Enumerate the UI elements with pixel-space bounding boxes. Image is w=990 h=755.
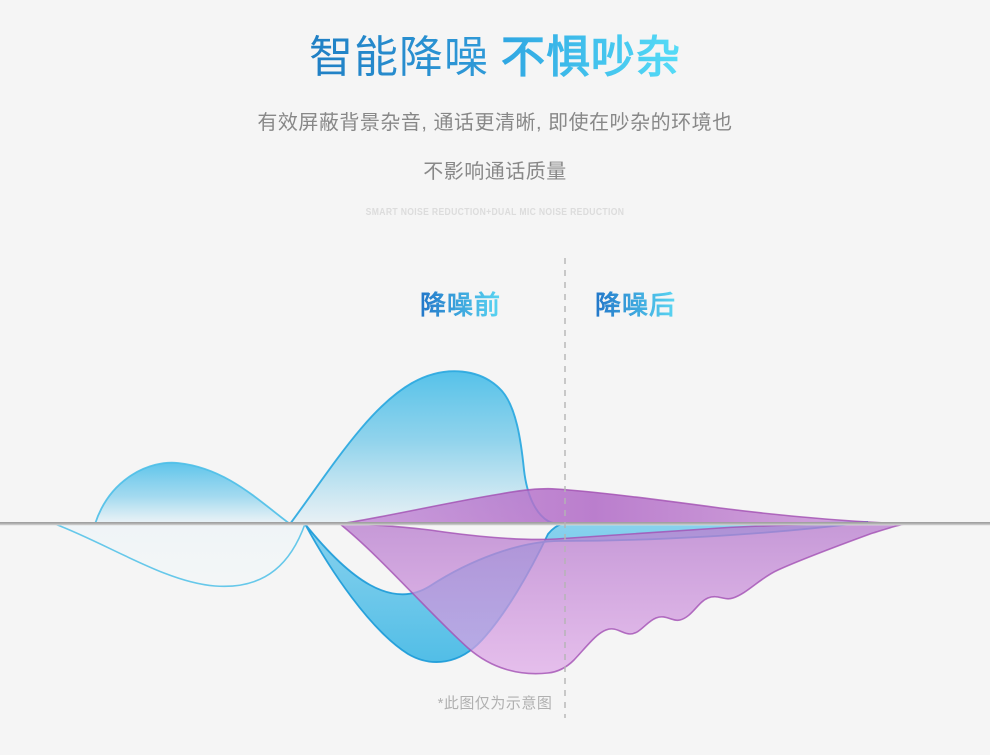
clean-wave-upper-lobe — [340, 489, 905, 524]
noise-reduction-page: 智能降噪不惧吵杂 有效屏蔽背景杂音, 通话更清晰, 即使在吵杂的环境也 不影响通… — [0, 0, 990, 755]
subtitle-line-2: 不影响通话质量 — [0, 155, 990, 184]
page-title-part1: 智能降噪 — [309, 33, 489, 82]
noise-wave-lower-main-lobe — [305, 522, 868, 662]
noise-wave-upper-main-lobe — [290, 371, 562, 524]
footnote-disclaimer: *此图仅为示意图 — [0, 692, 990, 713]
noise-wave-lower-small-lobe — [55, 524, 305, 586]
eyebrow-tagline: SMART NOISE REDUCTION+DUAL MIC NOISE RED… — [69, 207, 920, 218]
page-title: 智能降噪不惧吵杂 — [0, 30, 990, 86]
noise-wave-upper-small-lobe — [95, 463, 290, 524]
label-before-noise-reduction: 降噪前 — [420, 285, 501, 322]
label-after-noise-reduction: 降噪后 — [595, 285, 676, 322]
clean-wave-lower-lobe — [340, 524, 905, 674]
subtitle-line-1: 有效屏蔽背景杂音, 通话更清晰, 即使在吵杂的环境也 — [0, 106, 990, 135]
waveform-axis-line — [0, 522, 990, 525]
page-title-part2: 不惧吵杂 — [501, 33, 681, 82]
